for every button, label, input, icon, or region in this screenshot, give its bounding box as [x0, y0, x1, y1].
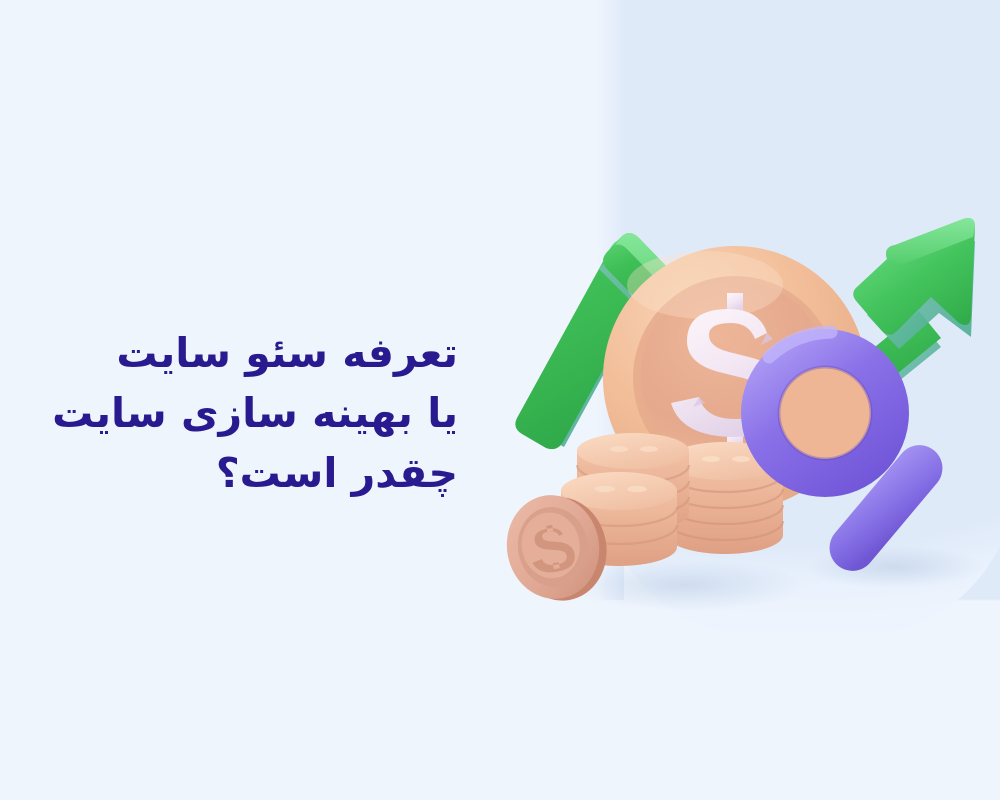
headline-line-1: تعرفه سئو سایت	[58, 323, 458, 383]
page-title: تعرفه سئو سایت یا بهینه سازی سایت چقدر ا…	[58, 323, 458, 503]
magnifier-ring	[741, 329, 909, 497]
seo-cost-3d-illustration	[495, 175, 1000, 645]
banner-root: تعرفه سئو سایت یا بهینه سازی سایت چقدر ا…	[0, 0, 1000, 800]
headline-line-3: چقدر است؟	[58, 443, 458, 503]
headline-line-2: یا بهینه سازی سایت	[58, 383, 458, 443]
